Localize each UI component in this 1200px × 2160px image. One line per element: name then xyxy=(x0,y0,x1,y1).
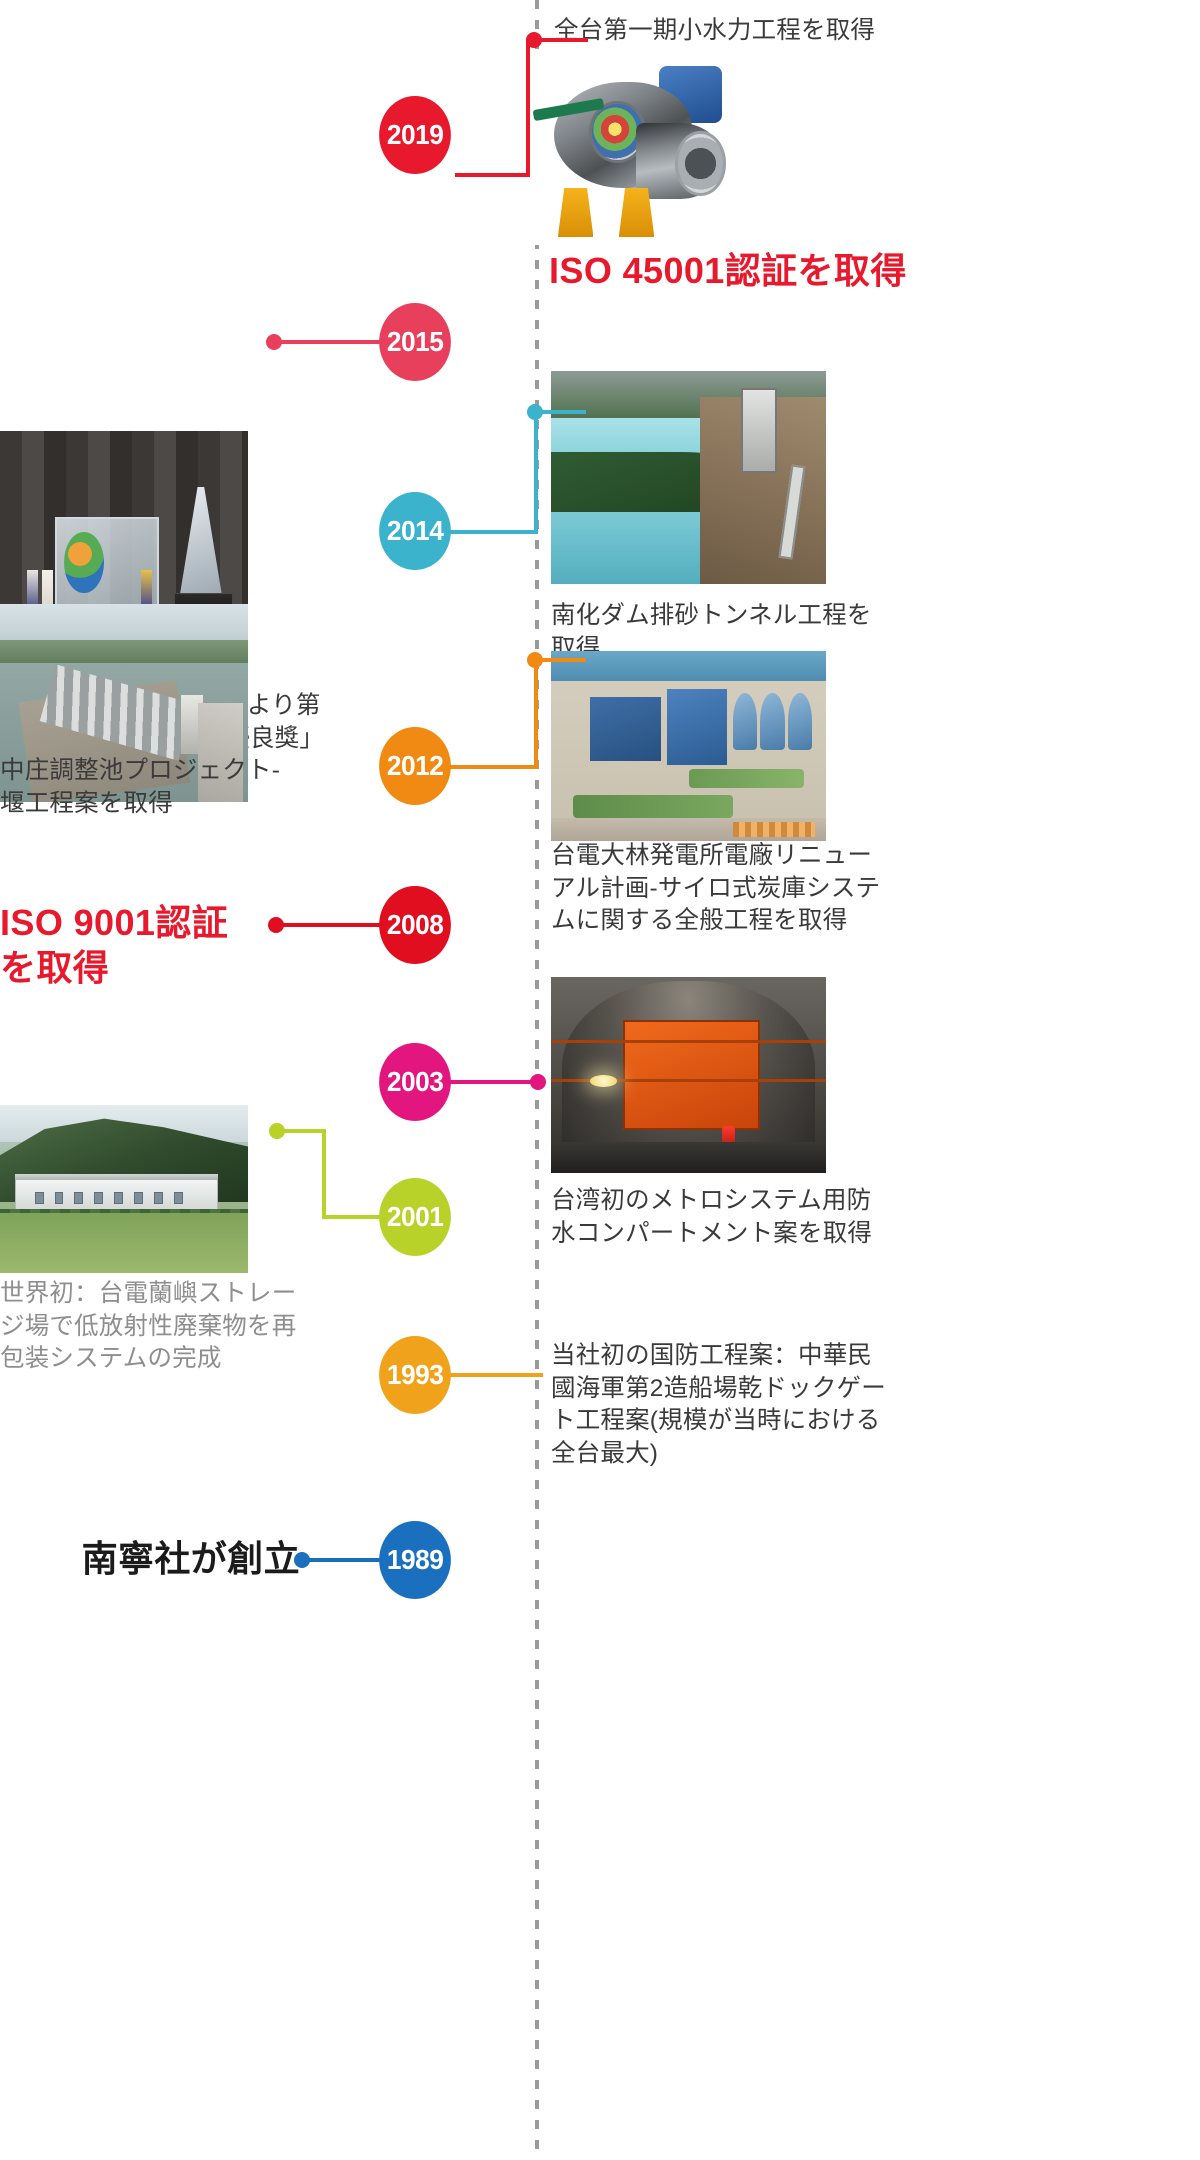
connector-dot-2014 xyxy=(527,404,543,420)
year-label-2001: 2001 xyxy=(387,1201,444,1233)
year-label-2019: 2019 xyxy=(387,119,444,151)
year-node-2003[interactable]: 2003 xyxy=(379,1043,451,1121)
connector-dot-1989 xyxy=(294,1552,310,1568)
caption-2003: 台湾初のメトロシステム用防水コンパートメント案を取得 xyxy=(551,1185,891,1250)
lanyu-storage-photo xyxy=(0,1105,248,1273)
metro-watertight-gate-photo xyxy=(551,977,826,1173)
connector-dot-2001 xyxy=(269,1123,285,1139)
connector-dot-2008 xyxy=(268,917,284,933)
hydro-turbine-photo xyxy=(520,55,730,245)
connector-2001-horizontal-lower xyxy=(322,1215,388,1219)
year-label-1989: 1989 xyxy=(387,1544,444,1576)
caption-2019: 全台第一期小水力工程を取得 xyxy=(554,15,974,48)
connector-2014-vertical xyxy=(534,410,538,534)
year-node-2019[interactable]: 2019 xyxy=(379,96,451,174)
year-label-2008: 2008 xyxy=(387,909,444,941)
year-node-2014[interactable]: 2014 xyxy=(379,492,451,570)
connector-1993-horizontal xyxy=(448,1373,543,1377)
year-node-2008[interactable]: 2008 xyxy=(379,886,451,964)
connector-dot-2012 xyxy=(527,652,543,668)
year-label-2014: 2014 xyxy=(387,515,444,547)
caption-2001: 世界初：台電蘭嶼ストレージ場で低放射性廃棄物を再包装システムの完成 xyxy=(0,1278,300,1376)
year-label-2012: 2012 xyxy=(387,750,444,782)
connector-2014-horizontal-lower xyxy=(446,530,538,534)
connector-2019-vertical xyxy=(526,38,530,177)
year-node-2015[interactable]: 2015 xyxy=(379,303,451,381)
connector-dot-2003 xyxy=(530,1074,546,1090)
year-node-1989[interactable]: 1989 xyxy=(379,1521,451,1599)
year-node-1993[interactable]: 1993 xyxy=(379,1336,451,1414)
connector-dot-2015 xyxy=(266,334,282,350)
connector-2008-horizontal xyxy=(275,923,388,927)
headline-founding: 南寧社が創立 xyxy=(70,1536,300,1581)
year-label-2015: 2015 xyxy=(387,326,444,358)
connector-2019-horizontal-lower xyxy=(455,173,530,177)
dalin-power-plant-photo xyxy=(551,651,826,841)
connector-2012-horizontal-lower xyxy=(446,765,538,769)
connector-2015-horizontal xyxy=(272,340,388,344)
caption-2012-left: 中庄調整池プロジェクト-堰工程案を取得 xyxy=(0,755,300,820)
nanhua-dam-photo xyxy=(551,371,826,584)
connector-dot-2019 xyxy=(526,32,542,48)
caption-1993: 当社初の国防工程案：中華民國海軍第2造船場乾ドックゲート工程案(規模が当時におけ… xyxy=(551,1340,891,1470)
headline-iso9001: ISO 9001認証を取得 xyxy=(0,900,260,990)
connector-2012-vertical xyxy=(534,658,538,769)
year-node-2012[interactable]: 2012 xyxy=(379,727,451,805)
headline-iso45001: ISO 45001認証を取得 xyxy=(549,248,1049,293)
connector-2003-horizontal xyxy=(448,1080,538,1084)
connector-2001-vertical xyxy=(322,1129,326,1219)
caption-2012-right: 台電大林発電所電廠リニューアル計画-サイロ式炭庫システムに関する全般工程を取得 xyxy=(551,840,891,938)
year-label-1993: 1993 xyxy=(387,1359,444,1391)
year-label-2003: 2003 xyxy=(387,1066,444,1098)
year-node-2001[interactable]: 2001 xyxy=(379,1178,451,1256)
connector-1989-horizontal xyxy=(300,1558,388,1562)
